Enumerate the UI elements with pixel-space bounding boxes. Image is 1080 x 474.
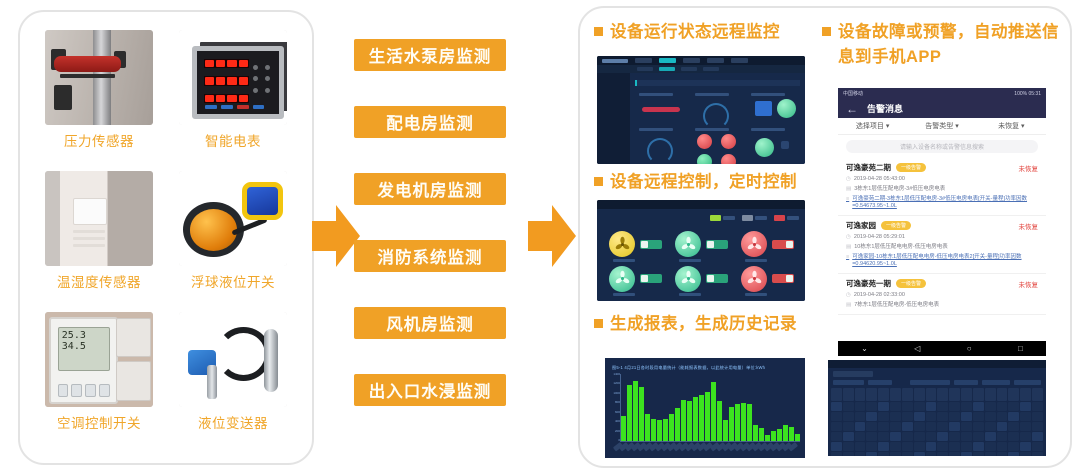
unit-label [745, 293, 767, 296]
arrow-right-icon-right [528, 205, 576, 267]
table-header-row [828, 388, 1046, 401]
table-column-header[interactable] [1020, 388, 1031, 401]
phone-search-input[interactable]: 请输入设备名称或告警信息搜索 [846, 140, 1038, 153]
card-label [639, 93, 673, 96]
table-cell [878, 402, 889, 411]
lcd-line-2: 34.5 [62, 341, 106, 352]
unit-label [613, 293, 635, 296]
chart-bar [759, 428, 764, 441]
table-cell [890, 452, 901, 456]
chart-bar [645, 414, 650, 441]
device-card-temp-humidity-sensor: 温湿度传感器 [32, 171, 166, 312]
alarm-project-name: 可逸豪苑一期 [846, 278, 891, 289]
phone-page-title: 告警消息 [867, 102, 903, 115]
device-card-level-transmitter: 液位变送器 [166, 312, 300, 453]
control-body [597, 209, 805, 301]
alarm-device-row: ▤ 3栋东1层低压配电房-3#低压电房电表 [846, 186, 1038, 193]
control-unit-2[interactable] [669, 228, 733, 261]
card-label [695, 128, 729, 131]
table-row[interactable] [828, 432, 1046, 441]
control-unit-6[interactable] [735, 263, 799, 296]
chart-bar [711, 382, 716, 441]
table-cell [890, 412, 901, 421]
table-cell [985, 442, 996, 451]
table-cell [937, 442, 948, 451]
table-cell [890, 442, 901, 451]
alarm-level-badge: 一级告警 [881, 221, 911, 230]
table-cell [831, 442, 842, 451]
status-dot-red [721, 134, 736, 149]
table-cell [926, 412, 937, 421]
table-cell [890, 432, 901, 441]
table-cell [914, 432, 925, 441]
table-cell [831, 402, 842, 411]
gauge-icon [647, 138, 673, 164]
lcd-line-1: 25.3 [62, 330, 106, 341]
card-label [751, 128, 785, 131]
control-unit-1[interactable] [603, 228, 667, 261]
table-cell [914, 452, 925, 456]
table-cell [973, 422, 984, 431]
table-cell [926, 402, 937, 411]
table-cell [902, 402, 913, 411]
table-cell [949, 452, 960, 456]
table-cell [997, 402, 1008, 411]
control-unit-4[interactable] [603, 263, 667, 296]
dashboard-card-pumps[interactable] [691, 126, 744, 158]
table-column-header[interactable] [985, 388, 996, 401]
feature-heading-remote-control: 设备远程控制，定时控制 [594, 170, 814, 195]
infographic-root: 压力传感器 [0, 0, 1080, 474]
scenario-tag-2[interactable]: 配电房监测 [354, 106, 506, 138]
chart-bar [621, 416, 626, 441]
power-toggle[interactable] [772, 240, 794, 249]
table-cell [949, 402, 960, 411]
table-cell [937, 422, 948, 431]
table-cell [855, 452, 866, 456]
table-row[interactable] [828, 412, 1046, 421]
toolbar-filter[interactable] [868, 380, 892, 385]
table-column-header[interactable] [866, 388, 877, 401]
toolbar-action[interactable] [1014, 380, 1041, 385]
table-column-header[interactable] [973, 388, 984, 401]
table-cell [866, 412, 877, 421]
pressure-sensor-photo [45, 30, 153, 125]
bullet-square-icon [594, 27, 603, 36]
dashboard-logo [602, 59, 628, 63]
table-cell [1008, 452, 1019, 456]
table-column-header[interactable] [1008, 388, 1019, 401]
table-column-header[interactable] [855, 388, 866, 401]
table-cell [1032, 442, 1043, 451]
table-cell [843, 452, 854, 456]
status-dot-red [697, 134, 712, 149]
table-cell [866, 432, 877, 441]
fan-icon [675, 231, 701, 257]
filter-status[interactable]: 未恢复 ▾ [977, 121, 1046, 131]
feature-heading-text: 生成报表，生成历史记录 [610, 312, 797, 337]
home-circle-icon[interactable]: ○ [967, 344, 972, 353]
dashboard-card-control[interactable] [747, 126, 800, 158]
chevron-down-icon[interactable]: ⌄ [861, 344, 868, 353]
toolbar-filter[interactable] [833, 380, 864, 385]
device-icon: ▤ [846, 186, 851, 193]
fan-icon [741, 266, 767, 292]
unit-label [679, 293, 701, 296]
table-cell [1020, 402, 1031, 411]
unit-label [745, 259, 767, 262]
alarm-header: 可逸豪苑二期 一级告警 未恢复 [846, 162, 1038, 173]
alarm-time: 2019-04-28 05:29:01 [854, 234, 905, 241]
device-grid: 压力传感器 [20, 12, 312, 463]
table-cell [937, 452, 948, 456]
table-cell [866, 422, 877, 431]
table-cell [866, 442, 877, 451]
table-cell [926, 442, 937, 451]
table-cell [878, 422, 889, 431]
table-cell [997, 422, 1008, 431]
info-icon: ≡ [846, 254, 849, 268]
dashboard-main [630, 73, 805, 164]
table-cell [961, 442, 972, 451]
dashboard-tab[interactable] [683, 58, 700, 63]
history-data-table[interactable] [828, 360, 1046, 456]
table-cell [831, 432, 842, 441]
bullet-square-icon [594, 319, 603, 328]
alarm-device: 7栋东1层低压配电房-低压电房电表 [854, 302, 939, 309]
chart-bar [627, 385, 632, 441]
table-cell [890, 402, 901, 411]
unit-label [679, 259, 701, 262]
chart-bar [639, 387, 644, 441]
clock-icon: ◷ [846, 292, 851, 299]
bullet-square-icon [594, 177, 603, 186]
table-cell [843, 402, 854, 411]
power-toggle[interactable] [640, 274, 662, 283]
chart-bar [723, 420, 728, 441]
table-column-header[interactable] [937, 388, 948, 401]
table-column-header[interactable] [890, 388, 901, 401]
dashboard-sidebar[interactable] [597, 73, 630, 164]
table-cell [997, 432, 1008, 441]
smart-meter-photo [179, 30, 287, 125]
chart-bar [651, 419, 656, 441]
feature-heading-text: 设备故障或预警，自动推送信息到手机APP [838, 20, 1062, 70]
chart-bar [789, 427, 794, 441]
table-column-header[interactable] [914, 388, 925, 401]
table-row[interactable] [828, 452, 1046, 456]
alarm-header: 可逸豪苑一期 一级告警 未恢复 [846, 278, 1038, 289]
control-unit-5[interactable] [669, 263, 733, 296]
chart-y-axis: 1400120010008006004002000 [608, 372, 620, 442]
alarm-detail: 可逸家园-10栋东1层低压配电电房-低压电房电表2[开关-量程]功率因数=0.9… [852, 254, 1038, 268]
dashboard-card-status[interactable] [747, 91, 800, 123]
back-arrow-icon[interactable]: ← [846, 103, 858, 115]
toolbar-filter[interactable] [954, 380, 978, 385]
table-cell [902, 412, 913, 421]
report-bar-chart[interactable]: 图5-1 4月21日各时段用电量统计（能耗报表数据，以此统计用电量）单位:kWh… [605, 358, 805, 458]
control-unit-3[interactable] [735, 228, 799, 261]
alarm-device: 10栋东1层低压配电电房-低压电房电表 [854, 244, 948, 251]
table-cell [937, 432, 948, 441]
table-column-header[interactable] [997, 388, 1008, 401]
ac-control-switch-photo: 25.3 34.5 [45, 312, 153, 407]
table-toolbar [828, 377, 1046, 388]
alarm-time: 2019-04-28 05:43:00 [854, 176, 905, 183]
card-label [695, 93, 729, 96]
table-cell [902, 422, 913, 431]
dashboard-tab[interactable] [731, 58, 748, 63]
chart-bar [669, 414, 674, 441]
thermometer-icon [642, 107, 680, 112]
alarm-header: 可逸家园 一级告警 未恢复 [846, 220, 1038, 231]
table-column-header[interactable] [961, 388, 972, 401]
alarm-level-badge: 一级告警 [896, 279, 926, 288]
table-cell [1020, 412, 1031, 421]
table-cell [855, 432, 866, 441]
status-circle-icon [755, 138, 774, 157]
dashboard-card-pressure[interactable] [635, 126, 688, 158]
table-cell [1032, 402, 1043, 411]
feature-heading-text: 设备远程控制，定时控制 [610, 170, 797, 195]
scenario-tag-3[interactable]: 发电机房监测 [354, 173, 506, 205]
table-cell [914, 442, 925, 451]
alarm-status-text: 未恢复 [1019, 279, 1039, 289]
power-toggle[interactable] [706, 240, 728, 249]
toolbar-action[interactable] [982, 380, 1009, 385]
table-cell [926, 422, 937, 431]
feature-heading-text: 设备运行状态远程监控 [610, 20, 780, 45]
alarm-time-row: ◷ 2019-04-28 05:43:00 [846, 176, 1038, 183]
status-carrier: 中国移动 [843, 90, 863, 97]
phone-alarm-screenshot[interactable]: 中国移动 100% 05:31 ← 告警消息 选择项目 ▾ 告警类型 ▾ 未恢复… [838, 88, 1046, 356]
table-cell [878, 432, 889, 441]
bullet-square-icon [822, 27, 831, 36]
table-cell [866, 402, 877, 411]
device-card-pressure-sensor: 压力传感器 [32, 30, 166, 171]
table-column-header[interactable] [926, 388, 937, 401]
fan-icon [609, 266, 635, 292]
table-cell [985, 412, 996, 421]
device-label: 浮球液位开关 [191, 271, 275, 291]
chart-bar [795, 434, 800, 441]
dashboard-card-temperature[interactable] [635, 91, 688, 123]
chart-bar [753, 425, 758, 441]
table-cell [1032, 432, 1043, 441]
table-cell [985, 422, 996, 431]
dashboard-subtab[interactable] [637, 67, 653, 71]
alarm-detail-row[interactable]: ≡ 可逸家园-10栋东1层低压配电电房-低压电房电表2[开关-量程]功率因数=0… [846, 254, 1038, 268]
alarm-detail: 可逸豪苑二期-3栋东1层低压配电房-3#低压电房电表[开关-量程]功率因数=0.… [852, 196, 1038, 210]
alarm-level-badge: 一级告警 [896, 163, 926, 172]
chart-bar [771, 431, 776, 441]
table-cell [961, 452, 972, 456]
chart-bar [657, 420, 662, 441]
scenario-tag-4[interactable]: 消防系统监测 [354, 240, 506, 272]
scenario-tag-5[interactable]: 风机房监测 [354, 307, 506, 339]
chart-bar [693, 397, 698, 442]
dashboard-subtab[interactable] [681, 67, 697, 71]
chart-bar [717, 401, 722, 441]
table-cell [1008, 442, 1019, 451]
device-label: 温湿度传感器 [57, 271, 141, 291]
table-cell [843, 422, 854, 431]
chart-bar [705, 392, 710, 441]
table-cell [997, 452, 1008, 456]
card-label [751, 93, 785, 96]
table-cell [961, 432, 972, 441]
dashboard-card-grid [635, 91, 800, 157]
table-cell [902, 432, 913, 441]
alarm-project-name: 可逸家园 [846, 220, 876, 231]
table-cell [973, 402, 984, 411]
alarm-device-row: ▤ 10栋东1层低压配电电房-低压电房电表 [846, 244, 1038, 251]
table-cell [914, 422, 925, 431]
table-cell [973, 452, 984, 456]
chart-bar [777, 429, 782, 441]
chart-bar [681, 400, 686, 441]
status-square-icon [781, 141, 789, 149]
legend-item-fault [774, 215, 799, 221]
table-column-header[interactable] [878, 388, 889, 401]
scenario-tag-1[interactable]: 生活水泵房监测 [354, 39, 506, 71]
info-icon: ≡ [846, 196, 849, 210]
table-cell [1008, 402, 1019, 411]
table-cell [926, 452, 937, 456]
table-cell [855, 412, 866, 421]
chart-title: 图5-1 4月21日各时段用电量统计（能耗报表数据，以此统计用电量）单位:kWh [612, 365, 800, 371]
dashboard-screenshot[interactable] [597, 56, 805, 164]
legend-label [755, 216, 767, 220]
chart-bar [663, 419, 668, 441]
table-cell [997, 412, 1008, 421]
device-panel: 压力传感器 [18, 10, 314, 465]
control-topbar [597, 200, 805, 209]
scenario-column: 生活水泵房监测 配电房监测 发电机房监测 消防系统监测 风机房监测 出入口水浸监… [330, 0, 575, 474]
chart-bar [765, 435, 770, 441]
table-cell [914, 402, 925, 411]
dashboard-tab-active[interactable] [659, 58, 676, 63]
card-label [639, 128, 673, 131]
dashboard-section-title [635, 80, 800, 86]
table-cell [937, 402, 948, 411]
control-screenshot[interactable] [597, 200, 805, 301]
legend-label [723, 216, 735, 220]
chart-bar [735, 404, 740, 441]
table-cell [937, 412, 948, 421]
dashboard-tab[interactable] [635, 58, 652, 63]
chart-bar [783, 425, 788, 441]
alarm-detail-row[interactable]: ≡ 可逸豪苑二期-3栋东1层低压配电房-3#低压电房电表[开关-量程]功率因数=… [846, 196, 1038, 210]
control-legend [710, 215, 799, 221]
chart-bar [633, 381, 638, 441]
table-cell [973, 432, 984, 441]
table-body [828, 402, 1046, 456]
table-row[interactable] [828, 422, 1046, 431]
arrow-right-icon-left [312, 205, 360, 267]
table-cell [831, 422, 842, 431]
alarm-list-item[interactable]: 可逸豪苑二期 一级告警 未恢复 ◷ 2019-04-28 05:43:00 ▤ … [838, 158, 1046, 216]
table-cell [855, 402, 866, 411]
table-cell [866, 452, 877, 456]
phone-nav-bar: ⌄ ◁ ○ □ [838, 341, 1046, 356]
table-column-header[interactable] [831, 388, 842, 401]
phone-filter-bar: 选择项目 ▾ 告警类型 ▾ 未恢复 ▾ [838, 118, 1046, 135]
alarm-time: 2019-04-28 02:33:00 [854, 292, 905, 299]
chart-bar [675, 408, 680, 442]
table-column-header[interactable] [902, 388, 913, 401]
table-cell [1020, 422, 1031, 431]
recent-square-icon[interactable]: □ [1018, 344, 1023, 353]
table-cell [878, 412, 889, 421]
power-toggle[interactable] [772, 274, 794, 283]
table-cell [1008, 432, 1019, 441]
table-cell [949, 422, 960, 431]
table-cell [855, 422, 866, 431]
power-toggle[interactable] [640, 240, 662, 249]
y-tick-label: 1000 [613, 391, 620, 395]
dashboard-tab[interactable] [707, 58, 724, 63]
table-cell [914, 412, 925, 421]
alarm-time-row: ◷ 2019-04-28 02:33:00 [846, 292, 1038, 299]
table-cell [949, 432, 960, 441]
alarm-project-name: 可逸豪苑二期 [846, 162, 891, 173]
chart-x-axis [620, 442, 800, 456]
legend-item-stopped [742, 215, 767, 221]
dashboard-subtab[interactable] [703, 67, 719, 71]
table-cell [902, 452, 913, 456]
table-column-header[interactable] [1032, 388, 1043, 401]
toolbar-filter[interactable] [910, 380, 950, 385]
back-triangle-icon[interactable]: ◁ [914, 344, 920, 353]
dashboard-topbar [597, 56, 805, 65]
table-cell [1032, 452, 1043, 456]
dashboard-subtab-active[interactable] [659, 67, 675, 71]
legend-color-swatch [710, 215, 721, 221]
chart-bar [699, 395, 704, 441]
alarm-time-row: ◷ 2019-04-28 05:29:01 [846, 234, 1038, 241]
table-cell [985, 432, 996, 441]
table-cell [1020, 442, 1031, 451]
table-column-header[interactable] [949, 388, 960, 401]
status-dot-red [721, 154, 736, 165]
fan-icon [609, 231, 635, 257]
table-row[interactable] [828, 402, 1046, 411]
feature-heading-reports: 生成报表，生成历史记录 [594, 312, 814, 337]
fan-icon [675, 266, 701, 292]
table-row[interactable] [828, 442, 1046, 451]
alarm-list-item[interactable]: 可逸豪苑一期 一级告警 未恢复 ◷ 2019-04-28 02:33:00 ▤ … [838, 274, 1046, 315]
device-icon: ▤ [846, 302, 851, 309]
table-cell [878, 452, 889, 456]
table-column-header[interactable] [843, 388, 854, 401]
dashboard-subtabs [597, 65, 805, 73]
table-cell [831, 452, 842, 456]
clock-icon: ◷ [846, 176, 851, 183]
table-cell [973, 442, 984, 451]
power-toggle[interactable] [706, 274, 728, 283]
dashboard-card-humidity[interactable] [691, 91, 744, 123]
scenario-tag-6[interactable]: 出入口水浸监测 [354, 374, 506, 406]
device-label: 空调控制开关 [57, 412, 141, 432]
chart-bar [687, 401, 692, 441]
filter-alarm-type[interactable]: 告警类型 ▾ [907, 121, 976, 131]
alarm-list-item[interactable]: 可逸家园 一级告警 未恢复 ◷ 2019-04-28 05:29:01 ▤ 10… [838, 216, 1046, 274]
filter-project[interactable]: 选择项目 ▾ [838, 121, 907, 131]
feature-heading-monitoring: 设备运行状态远程监控 [594, 20, 809, 45]
device-label: 智能电表 [205, 130, 261, 150]
device-icon: ▤ [846, 244, 851, 251]
